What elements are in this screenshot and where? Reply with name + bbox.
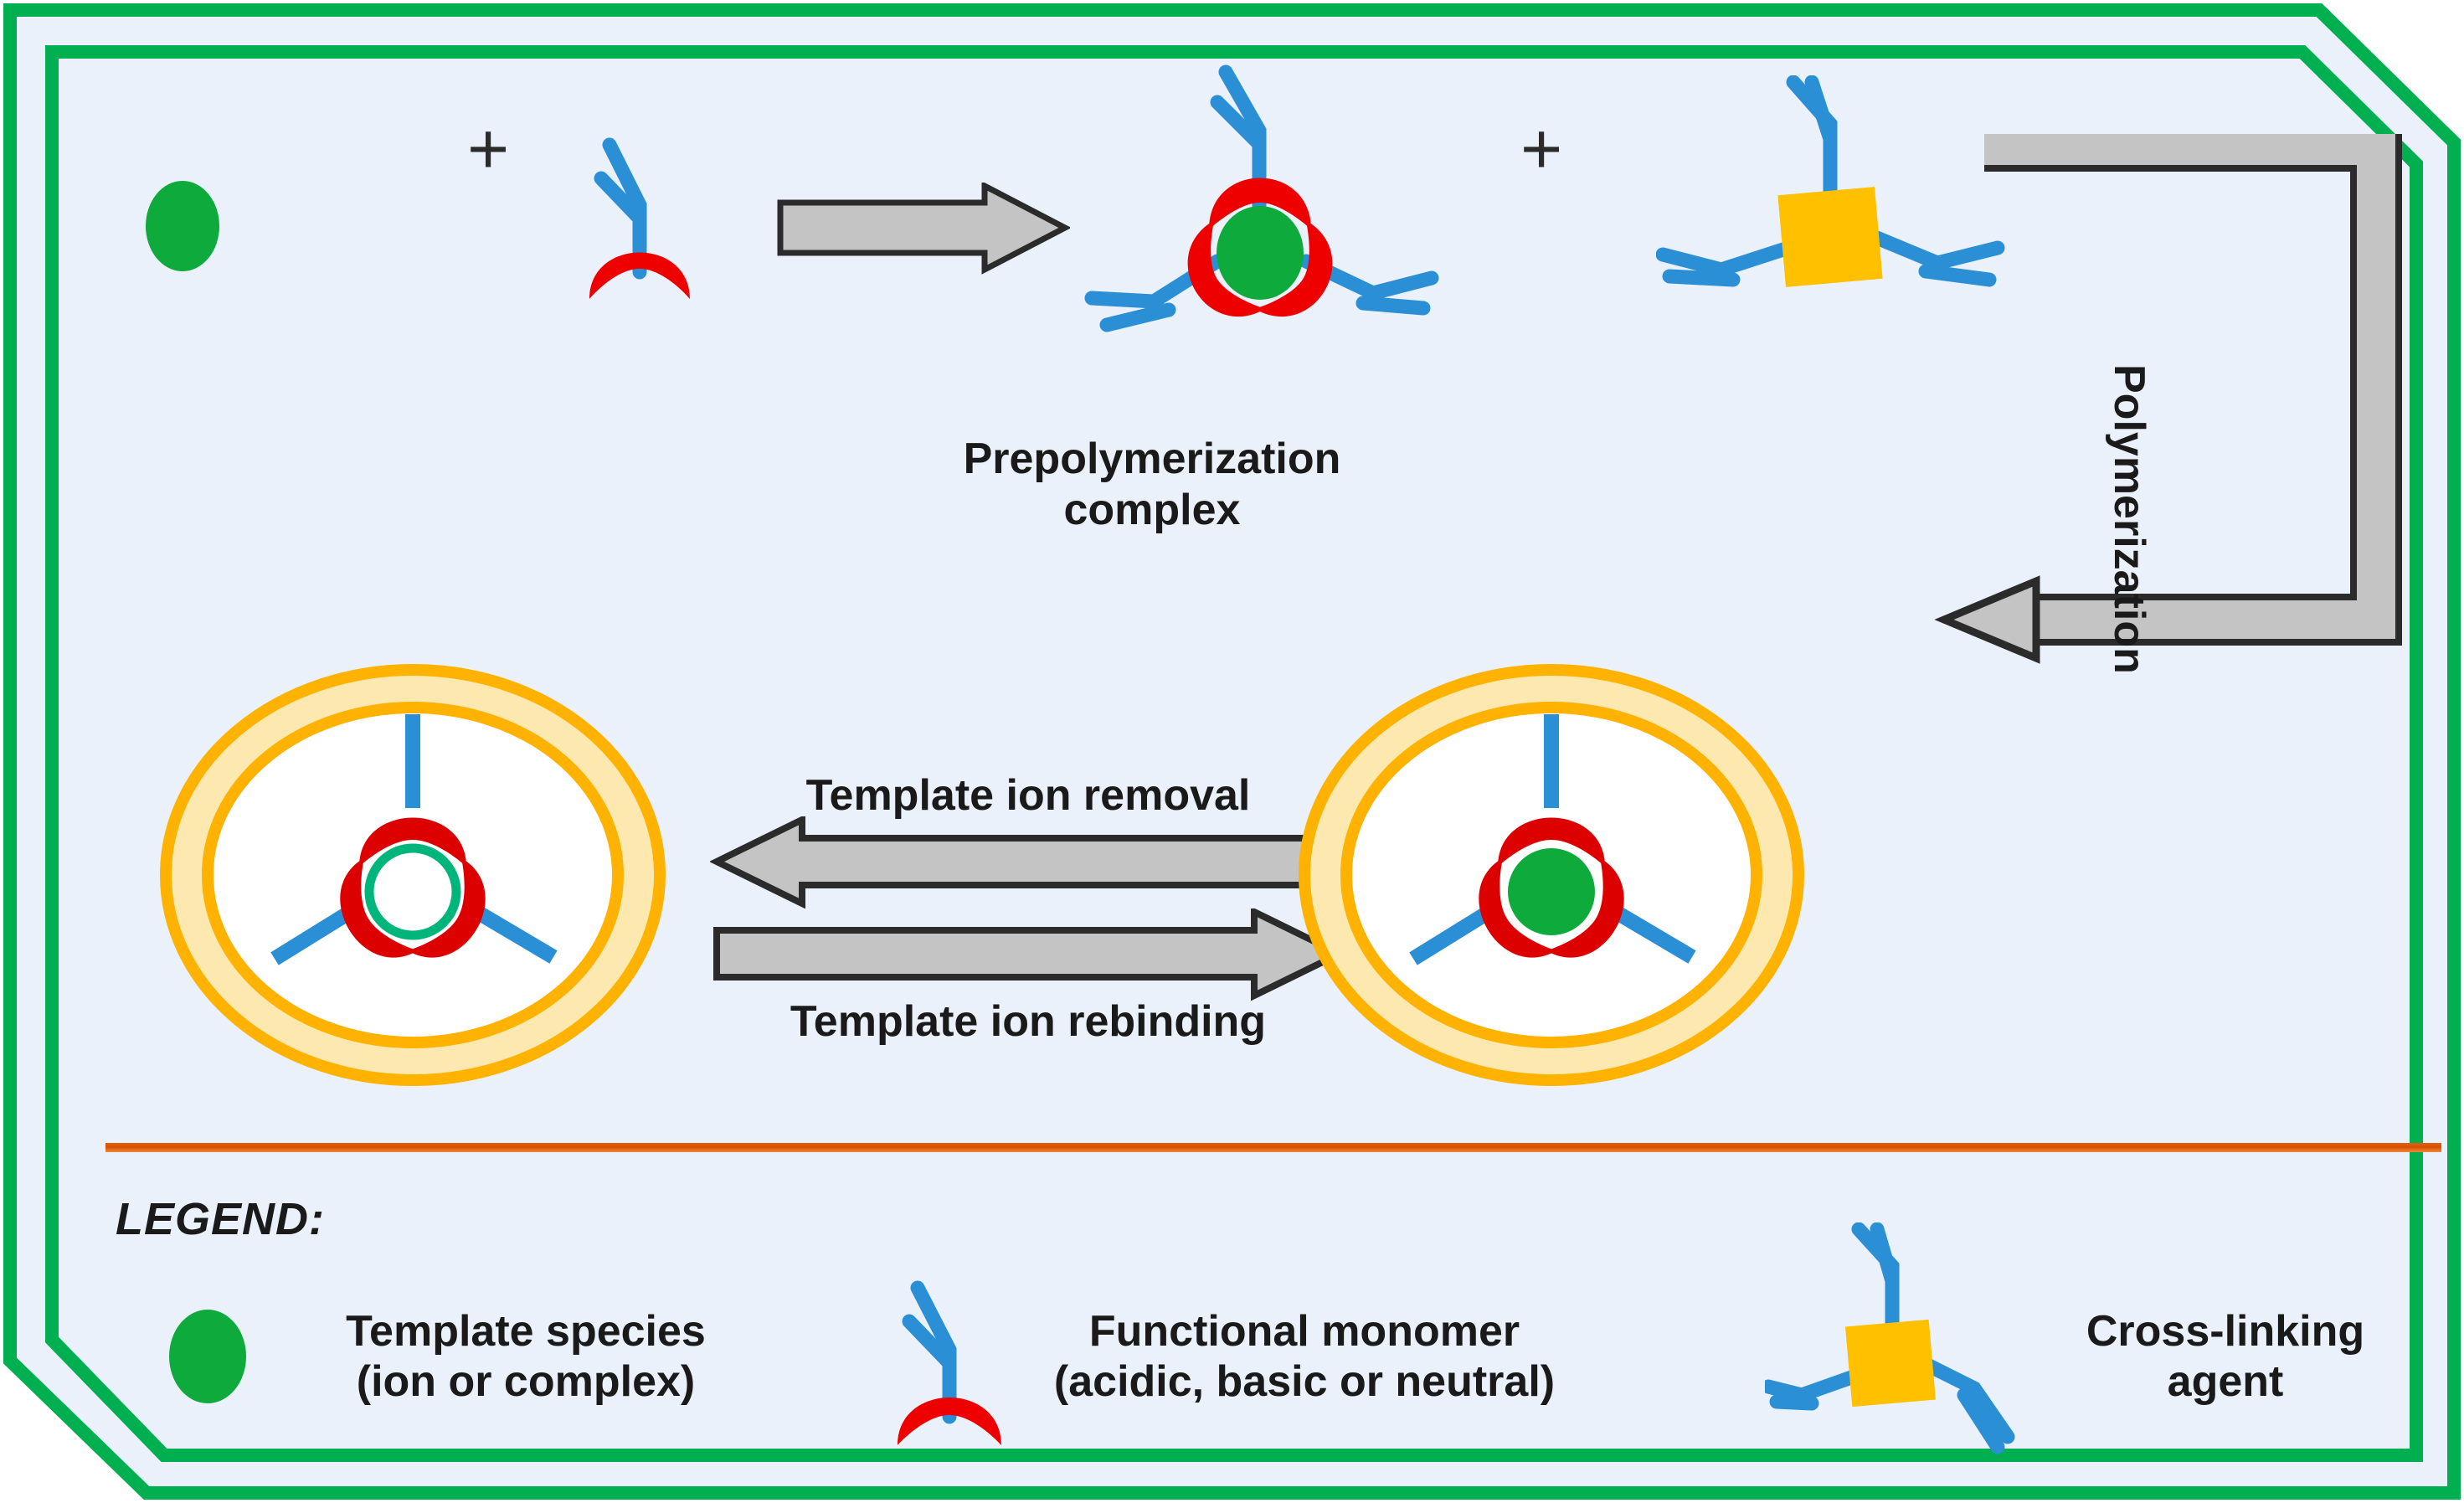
legend-item-label-monomer: Functional monomer (acidic, basic or neu… — [1011, 1306, 1597, 1408]
arrow-right-icon-step1 — [777, 183, 1070, 275]
legend-template-species-icon — [153, 1294, 262, 1419]
arrow-right-icon-rebinding — [710, 908, 1346, 1001]
prepolymerization-complex-label: Prepolymerization complex — [918, 434, 1386, 537]
functional-monomer-icon — [559, 105, 710, 314]
legend-divider — [105, 1143, 2441, 1152]
imprinted-cavity-filled-icon — [1292, 657, 1811, 1093]
figure-canvas: + — [0, 0, 2464, 1503]
diagram-content: + — [40, 33, 2431, 1475]
legend-crosslinking-agent-icon — [1765, 1222, 2016, 1474]
arrow-left-icon-removal — [710, 816, 1346, 908]
template-ion-removal-label: Template ion removal — [735, 770, 1321, 821]
legend-functional-monomer-icon — [869, 1249, 1020, 1459]
legend-item-label-template: Template species (ion or complex) — [291, 1306, 760, 1408]
template-ion-rebinding-label: Template ion rebinding — [735, 996, 1321, 1047]
template-species-icon — [132, 167, 233, 285]
legend-item-label-crosslinker: Cross-linking agent — [1991, 1306, 2460, 1408]
plus-operator-2: + — [1520, 113, 1562, 185]
prepolymerization-complex-icon — [1062, 42, 1455, 394]
polymerization-label: Polymerization — [2103, 364, 2154, 716]
imprinted-cavity-empty-icon — [153, 657, 672, 1093]
legend-title: LEGEND: — [116, 1193, 325, 1247]
plus-operator-1: + — [467, 113, 509, 185]
